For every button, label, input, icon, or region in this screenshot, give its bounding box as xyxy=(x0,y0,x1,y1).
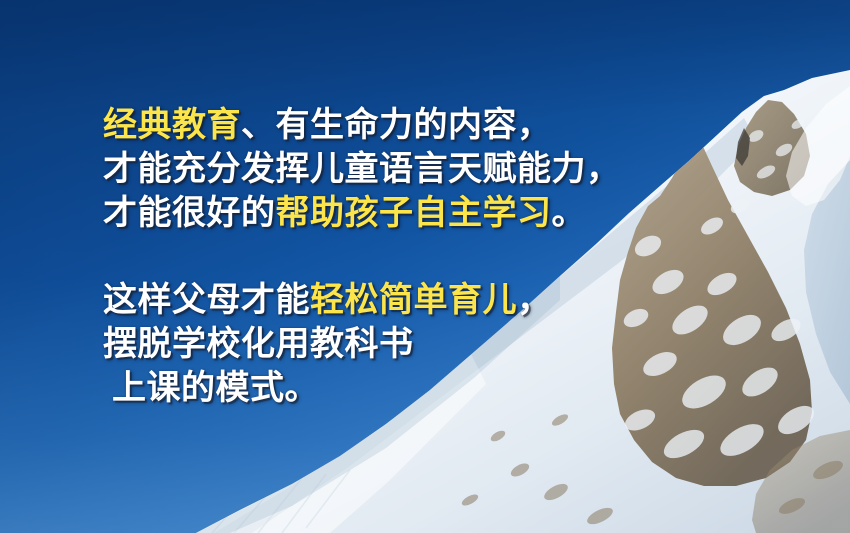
message-line-6: 上课的模式。 xyxy=(103,366,663,410)
message-line-2: 才能充分发挥儿童语言天赋能力， xyxy=(103,147,663,191)
message-line-3: 才能很好的帮助孩子自主学习。 xyxy=(103,191,663,235)
plain-text: 上课的模式。 xyxy=(112,368,319,408)
crevasse-lines xyxy=(240,420,344,470)
highlight-text: 帮助孩子自主学习 xyxy=(276,193,552,233)
message-line-1: 经典教育、有生命力的内容， xyxy=(103,103,663,147)
message-line-4: 这样父母才能轻松简单育儿， xyxy=(103,278,663,322)
message-overlay: 经典教育、有生命力的内容， 才能充分发挥儿童语言天赋能力， 才能很好的帮助孩子自… xyxy=(103,103,663,410)
plain-text: 。 xyxy=(552,193,587,233)
plain-text: ， xyxy=(517,280,552,320)
paragraph-1: 经典教育、有生命力的内容， 才能充分发挥儿童语言天赋能力， 才能很好的帮助孩子自… xyxy=(103,103,663,235)
plain-text: 这样父母才能 xyxy=(103,280,310,320)
plain-text: 、有生命力的内容， xyxy=(241,105,552,145)
highlight-text: 经典教育 xyxy=(103,105,241,145)
plain-text: 才能充分发挥儿童语言天赋能力， xyxy=(103,149,621,189)
banner-image: 经典教育、有生命力的内容， 才能充分发挥儿童语言天赋能力， 才能很好的帮助孩子自… xyxy=(0,0,850,533)
message-line-5: 摆脱学校化用教科书 xyxy=(103,322,663,366)
paragraph-2: 这样父母才能轻松简单育儿， 摆脱学校化用教科书 上课的模式。 xyxy=(103,278,663,410)
highlight-text: 轻松简单育儿 xyxy=(310,280,517,320)
plain-text: 摆脱学校化用教科书 xyxy=(103,324,414,364)
plain-text: 才能很好的 xyxy=(103,193,276,233)
